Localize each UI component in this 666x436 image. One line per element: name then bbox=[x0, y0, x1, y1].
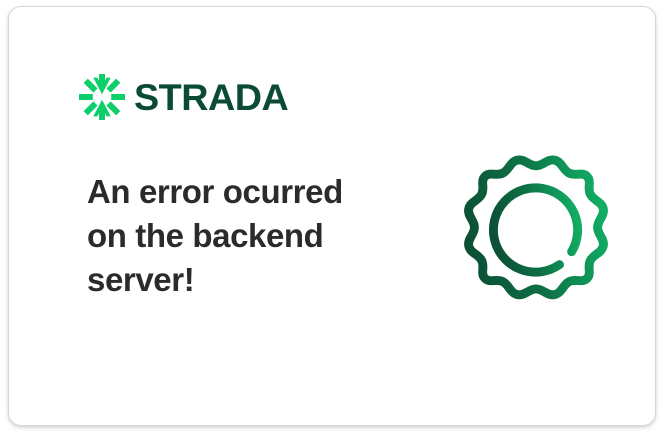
brand-wordmark: STRADA bbox=[134, 79, 288, 116]
page-root: STRADA An error ocurred on the backend s… bbox=[0, 0, 666, 436]
starburst-asterisk-icon bbox=[79, 74, 125, 120]
gear-illustration bbox=[455, 148, 617, 310]
error-card: STRADA An error ocurred on the backend s… bbox=[8, 6, 656, 426]
brand-logo: STRADA bbox=[79, 74, 285, 120]
error-headline: An error ocurred on the backend server! bbox=[87, 170, 387, 302]
gear-cog-icon bbox=[455, 148, 617, 310]
